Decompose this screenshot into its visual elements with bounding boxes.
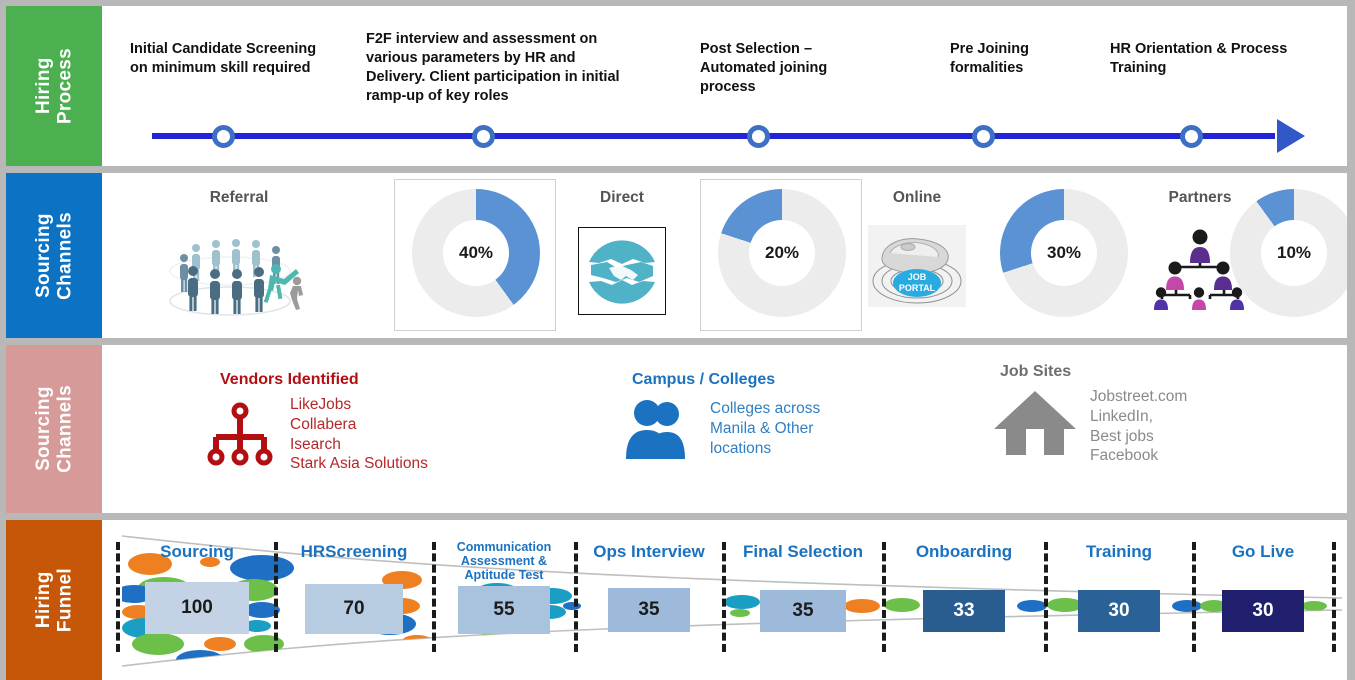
funnel-stage-hrscreening: HRScreening 70 <box>278 520 430 680</box>
list-item: LinkedIn, <box>1090 407 1187 427</box>
band-hiring-funnel-label: Hiring Funnel <box>33 568 76 632</box>
block-job-sites-items: Jobstreet.com LinkedIn, Best jobs Facebo… <box>1090 387 1187 466</box>
funnel-stage-value: 55 <box>458 586 550 634</box>
funnel-stage-value: 35 <box>608 588 690 632</box>
funnel-stage-final-selection: Final Selection 35 <box>726 520 880 680</box>
funnel-stage-value: 70 <box>305 584 403 634</box>
block-campus-items: Colleges across Manila & Other locations <box>710 399 820 458</box>
timeline-axis <box>152 133 1275 139</box>
funnel-stage-value: 30 <box>1078 590 1160 632</box>
channel-direct-title: Direct <box>532 189 712 207</box>
block-vendors-items: LikeJobs Collabera Isearch Stark Asia So… <box>290 395 428 474</box>
svg-text:JOB: JOB <box>908 272 927 282</box>
band-hiring-process: Hiring Process <box>6 6 102 166</box>
list-item: Manila & Other <box>710 419 820 439</box>
donut-value-referral: 40% <box>443 220 509 286</box>
funnel-stage-onboarding: Onboarding 33 <box>886 520 1042 680</box>
channel-direct: Direct <box>532 173 712 338</box>
list-item: Colleges across <box>710 399 820 419</box>
sourcing-list-pane: Vendors Identified <box>102 345 1347 513</box>
timeline-step-label-3: Post Selection – Automated joining proce… <box>700 40 868 97</box>
hiring-process-pane: Initial Candidate Screening on minimum s… <box>102 6 1347 166</box>
funnel-stage-name: Onboarding <box>886 542 1042 561</box>
process-timeline: Initial Candidate Screening on minimum s… <box>102 6 1347 166</box>
list-item: Best jobs <box>1090 427 1187 447</box>
donut-chart-direct: 20% <box>718 189 846 317</box>
channel-referral-title: Referral <box>146 189 332 207</box>
band-hiring-process-label: Hiring Process <box>33 48 76 124</box>
donut-chart-partners: 10% <box>1230 189 1347 317</box>
list-item: Jobstreet.com <box>1090 387 1187 407</box>
funnel-stage-ops-interview: Ops Interview 35 <box>578 520 720 680</box>
band-sourcing-channels-donuts: Sourcing Channels <box>6 173 102 338</box>
list-item: Facebook <box>1090 446 1187 466</box>
org-tree-icon <box>202 399 278 480</box>
list-item: Stark Asia Solutions <box>290 454 428 474</box>
list-item: Collabera <box>290 415 428 435</box>
block-campus-heading: Campus / Colleges <box>632 371 922 389</box>
channel-referral: Referral <box>146 173 332 338</box>
row-sourcing-channels-list: Sourcing Channels Vendors Identified <box>6 345 1347 513</box>
band-hiring-funnel: Hiring Funnel <box>6 520 102 680</box>
list-item: Isearch <box>290 435 428 455</box>
timeline-node-1[interactable] <box>212 125 235 148</box>
funnel-stage-go-live: Go Live 30 <box>1196 520 1330 680</box>
timeline-step-label-4: Pre Joining formalities <box>950 40 1090 78</box>
block-job-sites: Job Sites Jobstreet.com LinkedIn, Best j… <box>992 363 1312 466</box>
band-sourcing-channels-list-label: Sourcing Channels <box>33 385 76 473</box>
timeline-node-4[interactable] <box>972 125 995 148</box>
channel-online: Online <box>832 173 1002 338</box>
handshake-icon <box>578 227 666 315</box>
svg-text:PORTAL: PORTAL <box>899 283 936 293</box>
funnel-stage-name: Training <box>1048 542 1190 561</box>
mouse-job-portal-icon: JOB PORTAL <box>868 225 966 312</box>
house-icon <box>992 385 1078 466</box>
donut-value-direct: 20% <box>749 220 815 286</box>
timeline-step-label-1: Initial Candidate Screening on minimum s… <box>130 40 330 78</box>
funnel-stage-value: 35 <box>760 590 846 632</box>
funnel-stage-sourcing: Sourcing 100 <box>120 520 274 680</box>
block-vendors-identified: Vendors Identified <box>202 371 532 480</box>
band-sourcing-channels-list: Sourcing Channels <box>6 345 102 513</box>
sourcing-donuts-pane: Referral <box>102 173 1347 338</box>
block-campus-colleges: Campus / Colleges Coll <box>622 371 922 468</box>
funnel-stage-name: Communication Assessment & Aptitude Test <box>436 540 572 582</box>
row-hiring-process: Hiring Process Initial Candidate Screeni… <box>6 6 1347 166</box>
band-sourcing-channels-donuts-label: Sourcing Channels <box>33 212 76 300</box>
row-sourcing-channels-donuts: Sourcing Channels Referral <box>6 173 1347 338</box>
timeline-step-label-2: F2F interview and assessment on various … <box>366 30 624 107</box>
funnel-stage-name: Sourcing <box>120 542 274 561</box>
funnel-stage-training: Training 30 <box>1048 520 1190 680</box>
donut-chart-referral: 40% <box>412 189 540 317</box>
funnel-divider-8 <box>1332 542 1336 652</box>
timeline-node-3[interactable] <box>747 125 770 148</box>
funnel-stage-value: 33 <box>923 590 1005 632</box>
hiring-funnel-pane: Sourcing 100 Communication Assessment & … <box>102 520 1347 680</box>
list-item: LikeJobs <box>290 395 428 415</box>
funnel-stage-value: 100 <box>145 582 249 634</box>
timeline-node-2[interactable] <box>472 125 495 148</box>
block-job-sites-heading: Job Sites <box>1000 363 1312 381</box>
funnel-stage-communication: Communication Assessment & Aptitude Test… <box>436 520 572 680</box>
timeline-arrow-icon <box>1277 119 1305 153</box>
people-circle-icon <box>164 221 314 326</box>
funnel-stage-value: 30 <box>1222 590 1304 632</box>
funnel-stage-name: HRScreening <box>278 542 430 561</box>
timeline-node-5[interactable] <box>1180 125 1203 148</box>
funnel-stage-name: Go Live <box>1196 542 1330 561</box>
funnel-graphic: Sourcing 100 Communication Assessment & … <box>102 520 1347 680</box>
row-hiring-funnel: Hiring Funnel <box>6 520 1347 680</box>
slide-canvas: Hiring Process Initial Candidate Screeni… <box>0 0 1355 678</box>
list-item: locations <box>710 439 820 459</box>
donut-value-online: 30% <box>1031 220 1097 286</box>
funnel-stage-name: Ops Interview <box>578 542 720 561</box>
timeline-step-label-5: HR Orientation & Process Training <box>1110 40 1332 78</box>
donut-chart-online: 30% <box>1000 189 1128 317</box>
channel-online-title: Online <box>832 189 1002 207</box>
two-people-icon <box>622 397 698 468</box>
block-vendors-heading: Vendors Identified <box>220 371 532 389</box>
funnel-stage-name: Final Selection <box>726 542 880 561</box>
donut-value-partners: 10% <box>1261 220 1327 286</box>
